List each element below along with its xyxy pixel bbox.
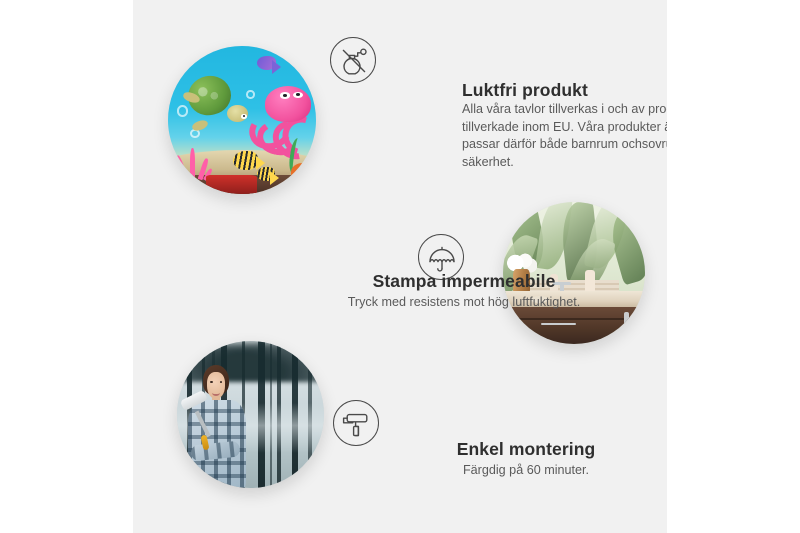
paint-roller-icon	[333, 400, 379, 446]
coral-branch	[190, 148, 195, 181]
no-odour-perfume-icon	[330, 37, 376, 83]
yellow-striped-fish	[257, 167, 275, 180]
content-panel: Luktfri produkt Alla våra tavlor tillver…	[133, 0, 667, 533]
cabinet-handle	[541, 323, 576, 325]
feature-title-easy-installation: Enkel montering	[433, 439, 619, 460]
woman-with-roller-forest-wallpaper-image	[177, 341, 324, 488]
turtle-head	[227, 105, 248, 123]
red-foreground-object	[206, 175, 256, 194]
octopus	[254, 86, 313, 148]
octopus-eye	[280, 92, 290, 98]
turtle-eye	[241, 114, 247, 119]
feature-image-odour-free	[168, 46, 316, 194]
woman-decorator	[183, 365, 268, 488]
underwater-cartoon-scene-image	[168, 46, 316, 194]
purple-fish	[257, 56, 276, 69]
feature-body-easy-installation: Färgdig på 60 minuter.	[423, 462, 629, 480]
vanity-cabinet	[512, 307, 645, 344]
octopus-eye	[293, 92, 303, 98]
feature-infographic: Luktfri produkt Alla våra tavlor tillver…	[0, 0, 800, 533]
sea-turtle	[184, 74, 249, 127]
feature-image-easy-installation	[177, 341, 324, 488]
crab	[291, 163, 315, 181]
feature-body-odour-free: Alla våra tavlor tillverkas i och av pro…	[462, 101, 667, 171]
octopus-head	[265, 86, 311, 122]
cabinet-handle	[624, 312, 629, 332]
feature-title-waterproof-print: Stampa impermeabile	[333, 271, 595, 292]
feature-title-odour-free: Luktfri produkt	[462, 80, 588, 101]
yellow-striped-fish	[233, 151, 258, 170]
feature-body-waterproof-print: Tryck med resistens mot hög luftfuktighe…	[313, 294, 615, 312]
